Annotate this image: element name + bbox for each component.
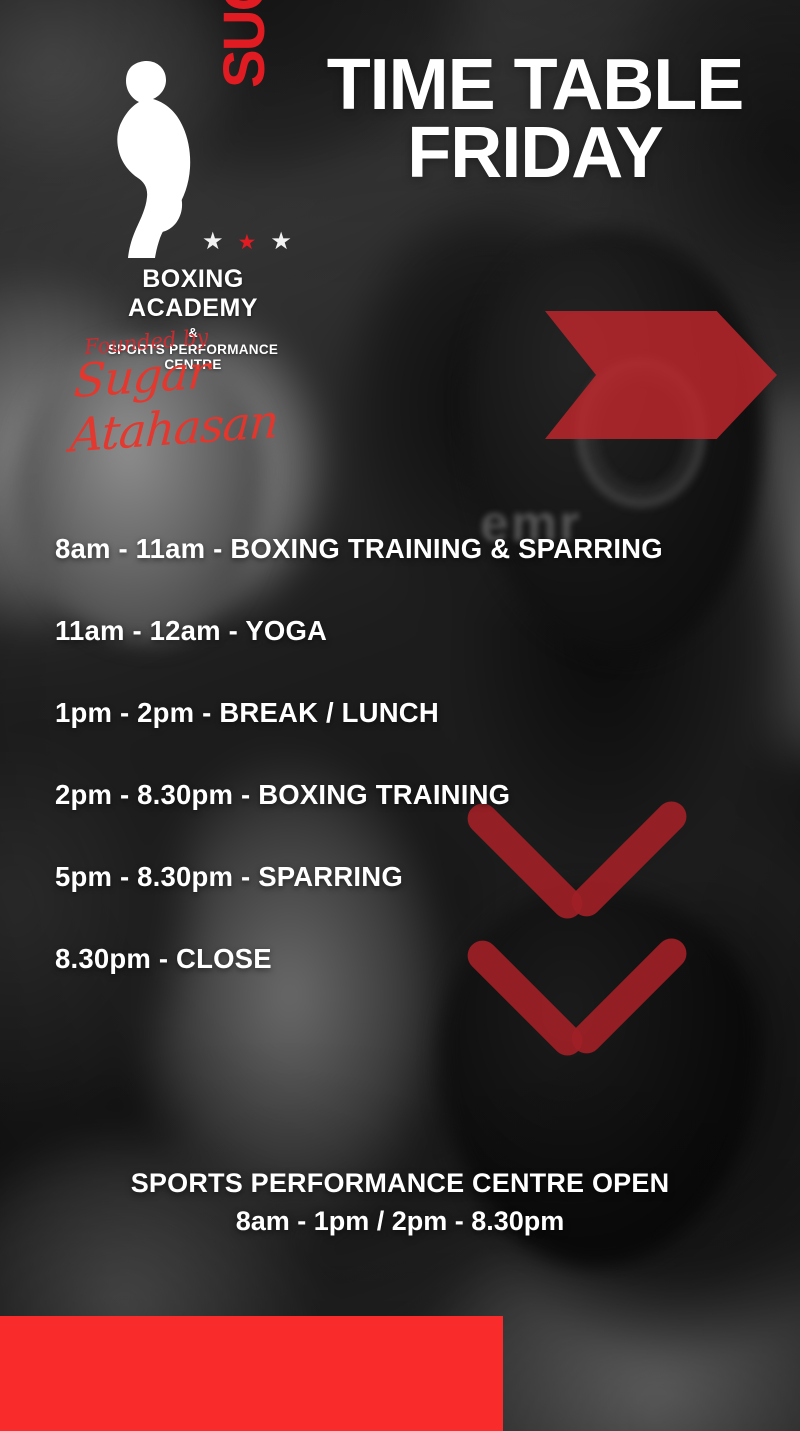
list-item: 8am - 11am - BOXING TRAINING & SPARRING [55, 533, 755, 565]
signature-name: Sugar Atahasan [68, 337, 311, 462]
list-item: 5pm - 8.30pm - SPARRING [55, 861, 755, 893]
logo-brand-vertical-text: SUGAR [216, 0, 274, 88]
red-footer-block [0, 1316, 503, 1431]
footer-hours: 8am - 1pm / 2pm - 8.30pm [0, 1206, 800, 1237]
list-item: 2pm - 8.30pm - BOXING TRAINING [55, 779, 755, 811]
logo-stars: ★ ★ ★ [202, 230, 292, 254]
star-icon-center: ★ [238, 232, 257, 253]
footer-title: SPORTS PERFORMANCE CENTRE OPEN [0, 1168, 800, 1199]
logo-academy-text: BOXING ACADEMY [78, 265, 308, 323]
poster-canvas: emr SUGAR ★ ★ ★ BOXING ACADEMY & SPORTS … [0, 0, 800, 1431]
list-item: 1pm - 2pm - BREAK / LUNCH [55, 697, 755, 729]
boxer-silhouette-icon [98, 58, 208, 258]
page-title-line2: FRIDAY [300, 120, 770, 188]
star-icon-right: ★ [270, 230, 292, 254]
list-item: 11am - 12am - YOGA [55, 615, 755, 647]
logo-mark: SUGAR ★ ★ ★ [78, 58, 308, 263]
list-item: 8.30pm - CLOSE [55, 943, 755, 975]
page-title: TIME TABLE FRIDAY [300, 52, 770, 187]
footer-opening-hours: SPORTS PERFORMANCE CENTRE OPEN 8am - 1pm… [0, 1168, 800, 1237]
star-icon-left: ★ [202, 230, 224, 254]
brand-logo: SUGAR ★ ★ ★ BOXING ACADEMY & SPORTS PERF… [78, 58, 308, 372]
schedule-list: 8am - 11am - BOXING TRAINING & SPARRING … [55, 533, 755, 975]
